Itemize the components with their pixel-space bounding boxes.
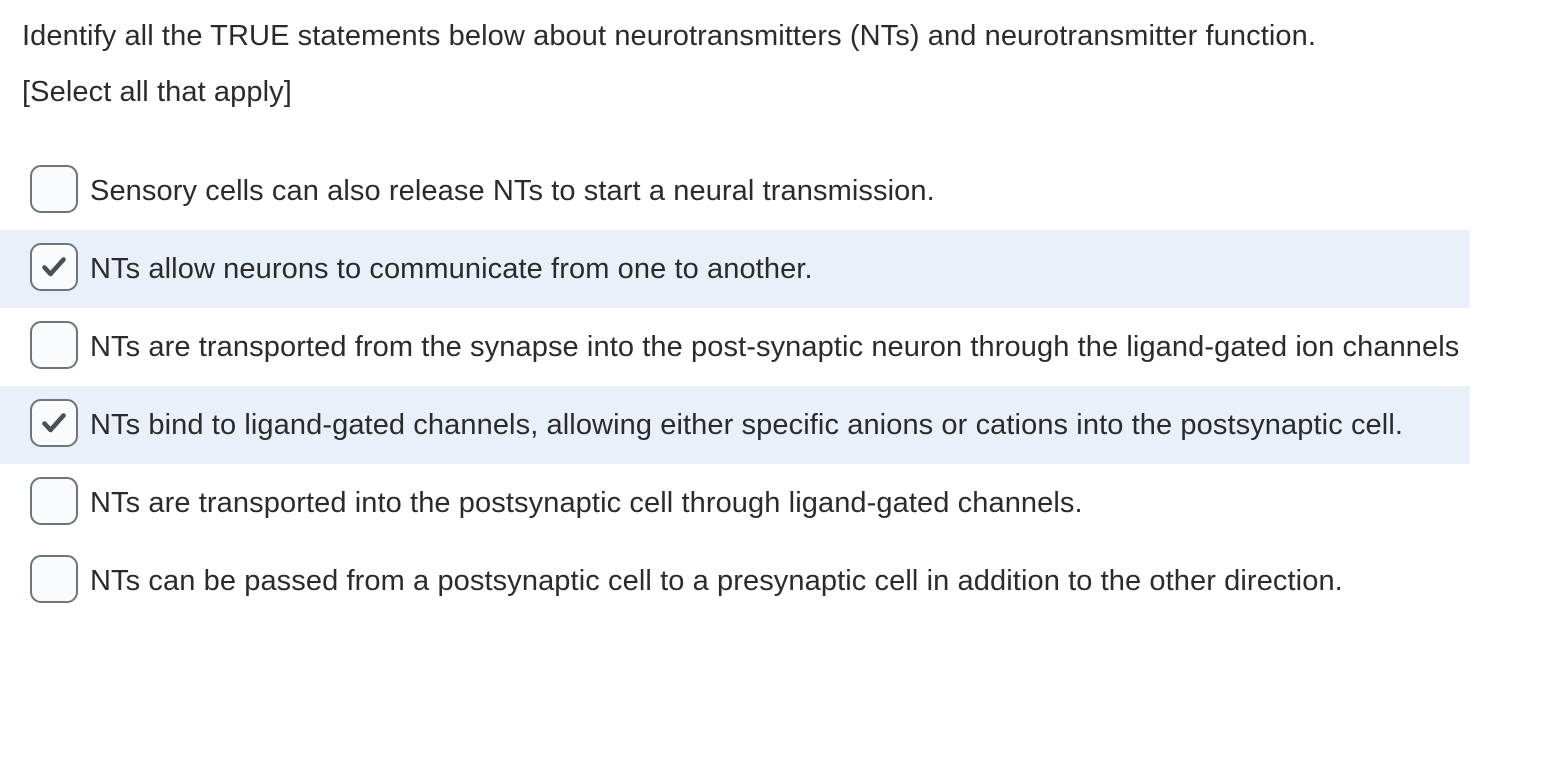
checkbox-unchecked-icon[interactable] bbox=[30, 321, 78, 369]
answer-option-label: NTs allow neurons to communicate from on… bbox=[90, 241, 813, 297]
answer-option-row-6[interactable]: NTs can be passed from a postsynaptic ce… bbox=[0, 542, 1470, 620]
answer-option-label: NTs can be passed from a postsynaptic ce… bbox=[90, 553, 1343, 609]
question-stem: Identify all the TRUE statements below a… bbox=[22, 8, 1322, 120]
quiz-question: Identify all the TRUE statements below a… bbox=[0, 0, 1566, 766]
checkbox-checked-icon[interactable] bbox=[30, 243, 78, 291]
answer-option-row-3[interactable]: NTs are transported from the synapse int… bbox=[0, 308, 1470, 386]
checkbox-unchecked-icon[interactable] bbox=[30, 165, 78, 213]
checkbox-unchecked-icon[interactable] bbox=[30, 477, 78, 525]
answer-options-list: Sensory cells can also release NTs to st… bbox=[0, 152, 1566, 620]
answer-option-row-1[interactable]: Sensory cells can also release NTs to st… bbox=[0, 152, 1470, 230]
checkbox-unchecked-icon[interactable] bbox=[30, 555, 78, 603]
answer-option-row-2[interactable]: NTs allow neurons to communicate from on… bbox=[0, 230, 1470, 308]
answer-option-row-4[interactable]: NTs bind to ligand-gated channels, allow… bbox=[0, 386, 1470, 464]
answer-option-label: NTs bind to ligand-gated channels, allow… bbox=[90, 397, 1403, 453]
answer-option-label: NTs are transported into the postsynapti… bbox=[90, 475, 1083, 531]
answer-option-label: Sensory cells can also release NTs to st… bbox=[90, 163, 935, 219]
answer-option-label: NTs are transported from the synapse int… bbox=[90, 319, 1459, 375]
checkbox-checked-icon[interactable] bbox=[30, 399, 78, 447]
answer-option-row-5[interactable]: NTs are transported into the postsynapti… bbox=[0, 464, 1470, 542]
